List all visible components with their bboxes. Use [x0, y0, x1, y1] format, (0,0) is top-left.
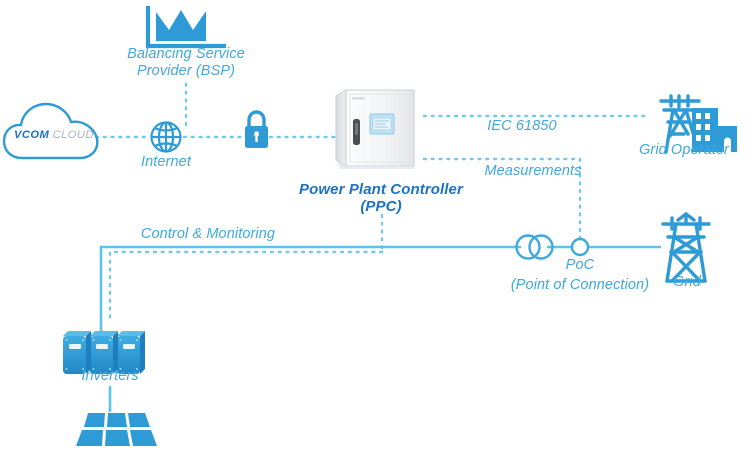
lock-icon	[245, 112, 268, 148]
cloud-logo-word: CLOUD	[53, 129, 94, 141]
grid-label: Grid	[652, 274, 722, 291]
inverters-label: Inverters	[60, 368, 160, 385]
cloud-logo-text: VCOM CLOUD	[14, 129, 90, 141]
iec-61850-link-label: IEC 61850	[466, 118, 578, 135]
internet-label: Internet	[122, 154, 210, 171]
measurements-link-label: Measurements	[468, 163, 598, 180]
solar-panel-icon	[76, 413, 157, 446]
link-control-monitoring-bus	[110, 252, 382, 322]
ppc-label-line1: Power Plant Controller	[288, 181, 474, 199]
globe-icon	[152, 123, 181, 152]
controller-cabinet-icon	[336, 90, 414, 169]
poc-label-line2: (Point of Connection)	[500, 277, 660, 294]
cloud-logo-brand: VCOM	[14, 129, 49, 141]
poc-label-line1: PoC	[540, 257, 620, 274]
ppc-label-line2: (PPC)	[288, 198, 474, 216]
bsp-label: Balancing Service Provider (BSP)	[100, 46, 272, 80]
bar-chart-icon	[148, 8, 224, 46]
control-monitoring-link-label: Control & Monitoring	[124, 226, 292, 243]
ppc-architecture-diagram: Balancing Service Provider (BSP) Interne…	[0, 0, 754, 454]
power-line-inverters-to-poc	[101, 247, 520, 334]
grid-operator-label: Grid Operator	[612, 142, 754, 159]
pylon-icon	[663, 214, 709, 281]
node-circle-icon	[572, 239, 588, 255]
